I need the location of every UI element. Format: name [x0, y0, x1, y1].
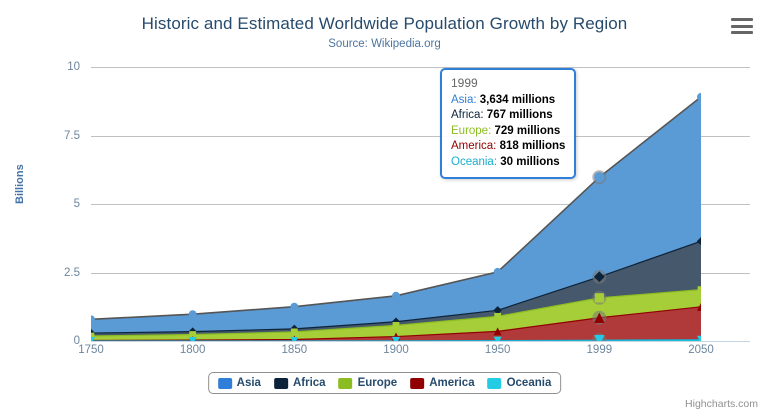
point-marker-asia[interactable] [290, 303, 298, 311]
x-axis-tick-label: 1900 [383, 344, 409, 356]
legend-item-asia[interactable]: Asia [218, 377, 261, 389]
tooltip-series-value: 3,634 millions [480, 94, 555, 106]
tooltip-series-name: Asia: [451, 94, 480, 106]
point-marker-asia[interactable] [494, 268, 502, 276]
tooltip-series-value: 767 millions [487, 109, 553, 121]
legend-label: Oceania [507, 377, 552, 389]
legend-swatch [218, 378, 232, 389]
x-axis-tick-label: 1850 [282, 344, 308, 356]
tooltip-series-name: Oceania: [451, 156, 500, 168]
legend-swatch [339, 378, 353, 389]
y-axis-tick-label: 10 [67, 61, 80, 73]
y-axis-tick-label: 7.5 [64, 130, 80, 142]
legend-label: Europe [358, 377, 398, 389]
tooltip-category: 1999 [451, 76, 565, 93]
point-marker-europe[interactable] [592, 291, 606, 305]
tooltip-row: Oceania: 30 millions [451, 155, 565, 171]
legend-item-europe[interactable]: Europe [339, 377, 398, 389]
legend-label: Asia [237, 377, 261, 389]
series-tooltip: 1999 Asia: 3,634 millionsAfrica: 767 mil… [440, 68, 576, 179]
marker-shape [494, 268, 502, 276]
legend-swatch [274, 378, 288, 389]
x-axis-labels: 1750180018501900195019992050 [91, 344, 701, 364]
credits-link[interactable]: Highcharts.com [685, 398, 758, 410]
x-axis-tick-label: 1950 [485, 344, 511, 356]
marker-shape [189, 310, 197, 318]
tooltip-row: Asia: 3,634 millions [451, 93, 565, 109]
chart-legend[interactable]: AsiaAfricaEuropeAmericaOceania [208, 372, 562, 394]
x-axis-tick-label: 1999 [587, 344, 613, 356]
x-axis-tick-label: 2050 [688, 344, 714, 356]
legend-label: Africa [293, 377, 326, 389]
marker-shape [698, 286, 701, 293]
marker-shape [494, 313, 501, 320]
tooltip-series-value: 729 millions [494, 125, 560, 137]
chart-subtitle: Source: Wikipedia.org [0, 38, 769, 50]
tooltip-series-name: Europe: [451, 125, 494, 137]
tooltip-row: America: 818 millions [451, 139, 565, 155]
hamburger-bar-3 [731, 31, 753, 34]
gridline [91, 341, 750, 342]
x-axis-tick-label: 1750 [78, 344, 104, 356]
point-marker-asia[interactable] [392, 292, 400, 300]
point-marker-europe[interactable] [494, 313, 501, 320]
hamburger-bar-1 [731, 18, 753, 21]
y-axis-tick-label: 2.5 [64, 267, 80, 279]
hamburger-bar-2 [731, 25, 753, 28]
tooltip-row: Europe: 729 millions [451, 124, 565, 140]
y-axis-labels: 02.557.510 [0, 67, 80, 341]
legend-swatch [488, 378, 502, 389]
legend-item-africa[interactable]: Africa [274, 377, 326, 389]
plot-area [91, 67, 701, 341]
point-marker-africa[interactable] [592, 270, 606, 284]
tooltip-series-value: 30 millions [500, 156, 559, 168]
point-marker-asia[interactable] [189, 310, 197, 318]
point-marker-europe[interactable] [393, 322, 400, 329]
y-axis-title: Billions [14, 164, 26, 204]
point-marker-america[interactable] [592, 311, 606, 325]
tooltip-series-name: Africa: [451, 109, 487, 121]
marker-shape [594, 172, 604, 182]
tooltip-series-name: America: [451, 140, 500, 152]
marker-shape [392, 292, 400, 300]
marker-shape [595, 293, 604, 302]
tooltip-series-value: 818 millions [500, 140, 566, 152]
point-marker-europe[interactable] [291, 329, 298, 336]
tooltip-row: Africa: 767 millions [451, 108, 565, 124]
x-axis-tick-label: 1800 [180, 344, 206, 356]
stacked-area-series [91, 67, 701, 341]
legend-swatch [410, 378, 424, 389]
legend-label: America [429, 377, 474, 389]
highcharts-container: Historic and Estimated Worldwide Populat… [0, 0, 769, 416]
hamburger-menu-icon[interactable] [731, 16, 753, 36]
point-marker-europe[interactable] [698, 286, 701, 293]
legend-item-america[interactable]: America [410, 377, 474, 389]
point-marker-asia[interactable] [592, 170, 606, 184]
chart-title: Historic and Estimated Worldwide Populat… [0, 14, 769, 34]
marker-shape [290, 303, 298, 311]
y-axis-tick-label: 5 [74, 198, 80, 210]
legend-item-oceania[interactable]: Oceania [488, 377, 552, 389]
marker-shape [291, 329, 298, 336]
marker-shape [393, 322, 400, 329]
